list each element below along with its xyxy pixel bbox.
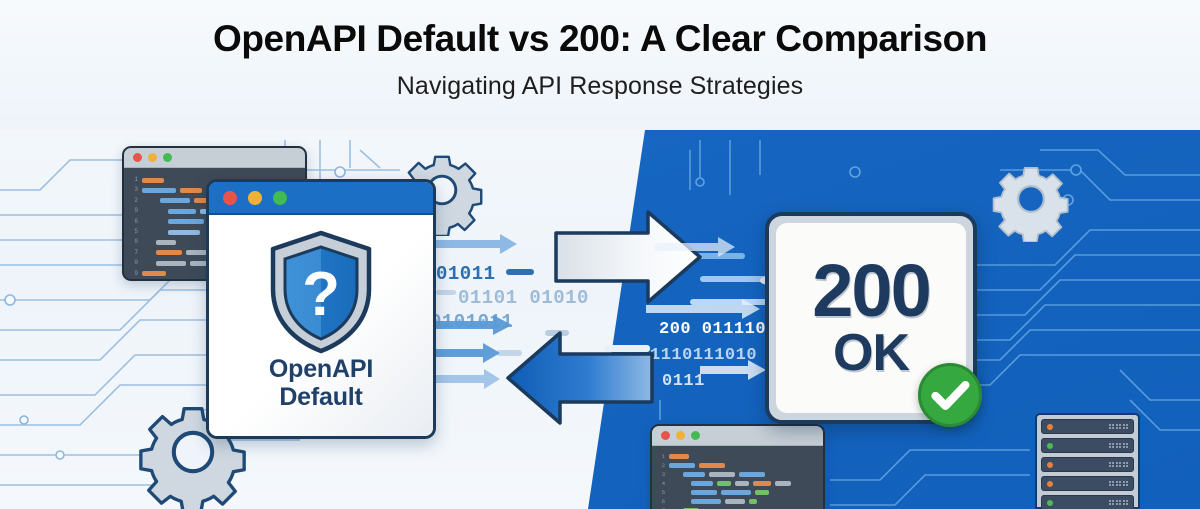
vent-grid (1109, 443, 1129, 449)
status-led-orange (1047, 424, 1053, 430)
shield-icon: ? (263, 227, 379, 355)
status-code: 200 (812, 257, 929, 325)
code-line (669, 452, 819, 461)
window-titlebar (209, 182, 433, 215)
line-number-gutter: 1 2 3 4 5 6 7 8 9 (656, 452, 669, 509)
line-number: 3 (656, 470, 665, 479)
line-number: 4 (656, 479, 665, 488)
card-label: OpenAPI Default (269, 355, 373, 411)
shield-question-glyph: ? (302, 260, 340, 329)
header: OpenAPI Default vs 200: A Clear Comparis… (0, 18, 1200, 101)
card-content: ? OpenAPI Default (209, 215, 433, 436)
code-line (669, 479, 819, 488)
server-rack (1035, 413, 1140, 509)
minimize-dot-icon[interactable] (248, 191, 262, 205)
vent-grid (1109, 481, 1129, 487)
code-line (669, 497, 819, 506)
server-unit (1041, 457, 1134, 472)
mini-arrow (425, 234, 517, 389)
vent-grid (1109, 462, 1129, 468)
minimize-dot-icon[interactable] (676, 431, 685, 440)
status-text: OK (833, 327, 909, 379)
maximize-dot-icon[interactable] (273, 191, 287, 205)
maximize-dot-icon[interactable] (691, 431, 700, 440)
openapi-default-card[interactable]: ? OpenAPI Default (206, 179, 436, 439)
status-led-green (1047, 500, 1053, 506)
code-editor-window-right[interactable]: 1 2 3 4 5 6 7 8 9 (650, 424, 825, 509)
status-led-orange (1047, 481, 1053, 487)
response-arrow (508, 333, 652, 423)
server-unit (1041, 419, 1134, 434)
page-subtitle: Navigating API Response Strategies (0, 72, 1200, 101)
card-label-line1: OpenAPI (269, 355, 373, 383)
server-unit (1041, 495, 1134, 509)
infographic-banner: OpenAPI Default vs 200: A Clear Comparis… (0, 0, 1200, 509)
close-dot-icon[interactable] (661, 431, 670, 440)
server-unit (1041, 476, 1134, 491)
status-led-green (1047, 443, 1053, 449)
code-line (669, 461, 819, 470)
code-lines (669, 452, 819, 509)
close-dot-icon[interactable] (223, 191, 237, 205)
line-number: 2 (656, 461, 665, 470)
code-body: 1 2 3 4 5 6 7 8 9 (652, 446, 823, 509)
check-circle-icon (918, 363, 982, 427)
vent-grid (1109, 424, 1129, 430)
vent-grid (1109, 500, 1129, 506)
status-led-orange (1047, 462, 1053, 468)
code-line (669, 488, 819, 497)
request-arrow (556, 212, 700, 302)
line-number: 1 (656, 452, 665, 461)
code-line (669, 470, 819, 479)
window-titlebar (652, 426, 823, 446)
card-label-line2: Default (269, 383, 373, 411)
server-unit (1041, 438, 1134, 453)
line-number: 6 (656, 497, 665, 506)
page-title: OpenAPI Default vs 200: A Clear Comparis… (0, 18, 1200, 60)
line-number: 5 (656, 488, 665, 497)
